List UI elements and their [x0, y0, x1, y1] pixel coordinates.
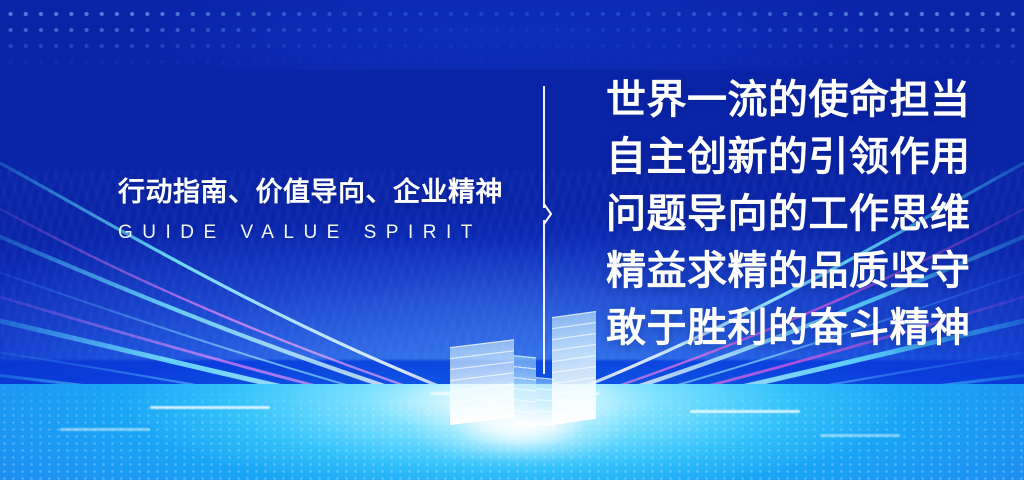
divider-segment-top [543, 86, 545, 208]
banner-canvas: 行动指南、价值导向、企业精神 GUIDE VALUE SPIRIT 世界一流的使… [0, 0, 1024, 480]
left-headline-cn: 行动指南、价值导向、企业精神 [118, 176, 518, 210]
slogan-line-4: 精益求精的品质坚守 [606, 243, 971, 300]
left-text-block: 行动指南、价值导向、企业精神 GUIDE VALUE SPIRIT [118, 176, 518, 244]
slogan-line-2: 自主创新的引领作用 [606, 129, 971, 186]
right-text-block: 世界一流的使命担当 自主创新的引领作用 问题导向的工作思维 精益求精的品质坚守 … [606, 72, 971, 357]
divider-segment-bottom [543, 220, 545, 374]
slogan-line-5: 敢于胜利的奋斗精神 [606, 300, 971, 357]
vertical-divider [543, 86, 559, 374]
chevron-right-icon [543, 204, 552, 224]
building-left-side [514, 355, 536, 427]
dot-grid-center-fade [0, 0, 1024, 70]
slogan-line-3: 问题导向的工作思维 [606, 186, 971, 243]
left-subhead-en: GUIDE VALUE SPIRIT [118, 222, 518, 244]
building-left [450, 339, 514, 425]
city-skyline [440, 300, 600, 425]
slogan-line-1: 世界一流的使命担当 [606, 72, 971, 129]
